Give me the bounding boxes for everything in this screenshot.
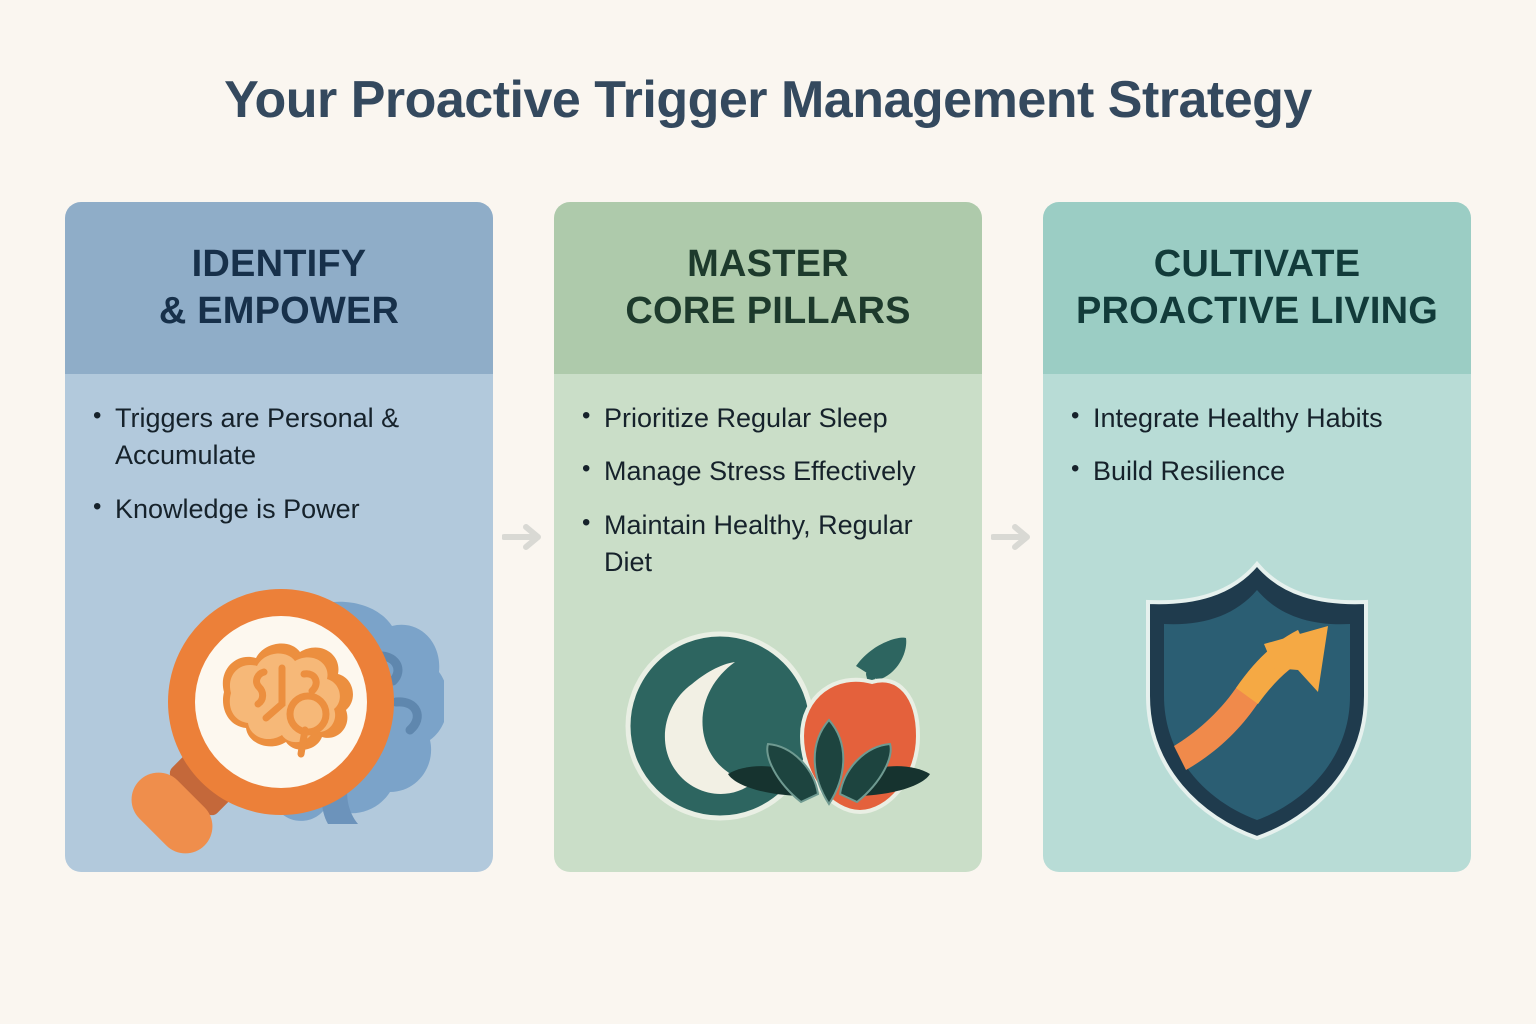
list-item: Build Resilience [1069, 453, 1445, 490]
icon-container-pillars [554, 596, 982, 872]
card-header-cultivate-proactive-living: CULTIVATE PROACTIVE LIVING [1043, 202, 1471, 374]
list-item: Integrate Healthy Habits [1069, 400, 1445, 437]
card-header-line-1: MASTER [687, 241, 849, 288]
card-header-line-2: CORE PILLARS [625, 288, 910, 335]
bullet-list-identify-empower: Triggers are Personal & Accumulate Knowl… [91, 400, 467, 528]
list-item: Triggers are Personal & Accumulate [91, 400, 467, 475]
card-body-master-core-pillars: Prioritize Regular Sleep Manage Stress E… [554, 374, 982, 872]
card-identify-empower[interactable]: IDENTIFY & EMPOWER Triggers are Personal… [65, 202, 493, 872]
card-header-line-2: & EMPOWER [159, 288, 399, 335]
magnifier-brain-icon [114, 574, 444, 864]
card-body-identify-empower: Triggers are Personal & Accumulate Knowl… [65, 374, 493, 872]
list-item: Maintain Healthy, Regular Diet [580, 507, 956, 582]
strategy-cards-row: IDENTIFY & EMPOWER Triggers are Personal… [65, 202, 1471, 872]
bullet-list-master-core-pillars: Prioritize Regular Sleep Manage Stress E… [580, 400, 956, 581]
card-master-core-pillars[interactable]: MASTER CORE PILLARS Prioritize Regular S… [554, 202, 982, 872]
card-header-master-core-pillars: MASTER CORE PILLARS [554, 202, 982, 374]
card-header-line-2: PROACTIVE LIVING [1076, 288, 1438, 335]
card-cultivate-proactive-living[interactable]: CULTIVATE PROACTIVE LIVING Integrate Hea… [1043, 202, 1471, 872]
card-header-line-1: CULTIVATE [1154, 241, 1361, 288]
arrow-right-icon [502, 521, 546, 553]
list-item: Knowledge is Power [91, 491, 467, 528]
list-item: Manage Stress Effectively [580, 453, 956, 490]
connector-arrow-1 [497, 202, 551, 872]
icon-container-cultivate [1043, 526, 1471, 872]
card-body-cultivate-proactive-living: Integrate Healthy Habits Build Resilienc… [1043, 374, 1471, 872]
icon-container-identify [65, 564, 493, 872]
sleep-stress-diet-icon [598, 616, 938, 846]
arrow-right-icon [991, 521, 1035, 553]
shield-growth-arrow-icon [1132, 556, 1382, 846]
card-header-line-1: IDENTIFY [192, 241, 367, 288]
page-title: Your Proactive Trigger Management Strate… [0, 72, 1536, 129]
list-item: Prioritize Regular Sleep [580, 400, 956, 437]
bullet-list-cultivate-proactive-living: Integrate Healthy Habits Build Resilienc… [1069, 400, 1445, 491]
connector-arrow-2 [986, 202, 1040, 872]
card-header-identify-empower: IDENTIFY & EMPOWER [65, 202, 493, 374]
